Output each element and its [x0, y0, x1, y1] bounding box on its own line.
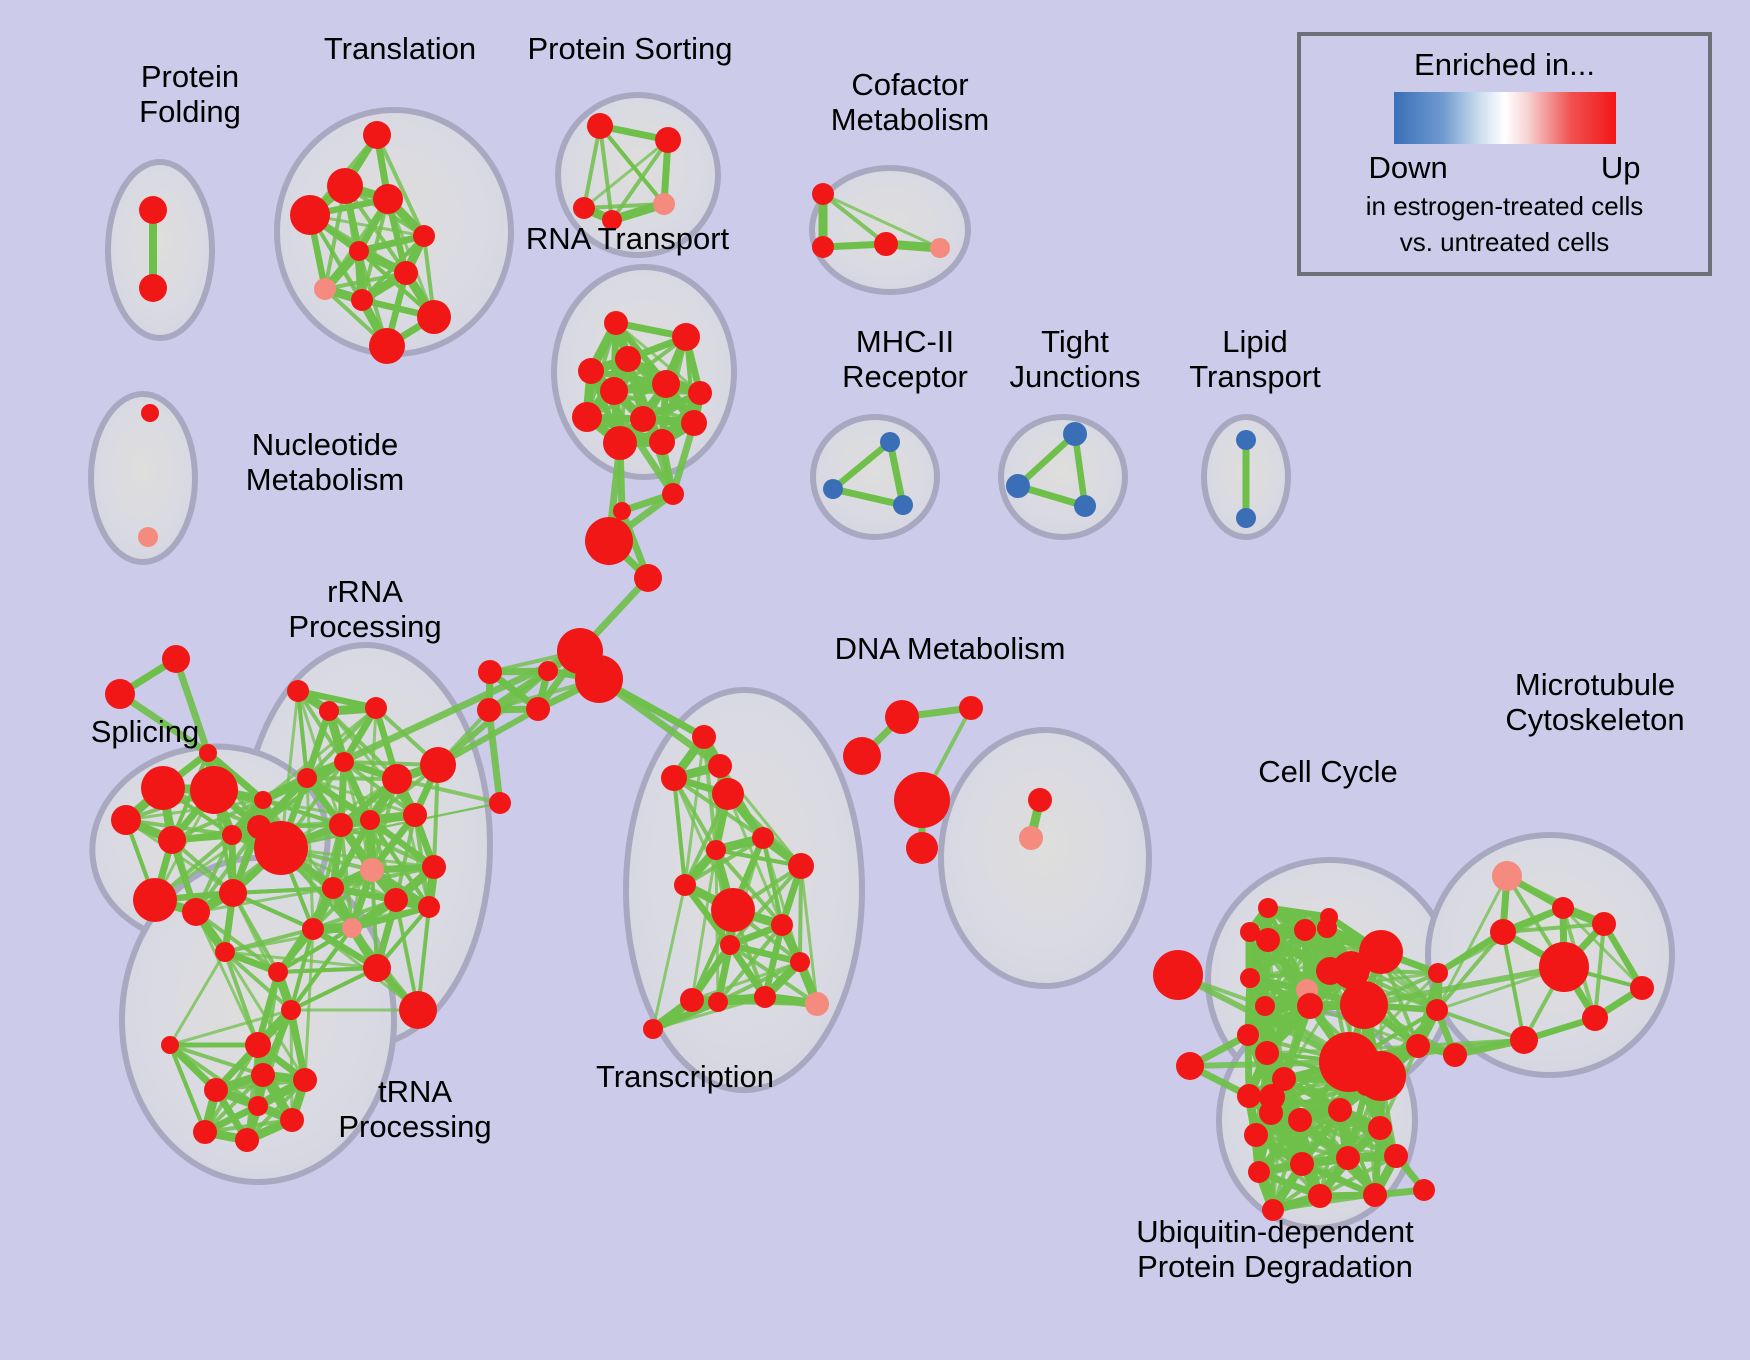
- network-node[interactable]: [812, 183, 834, 205]
- network-node[interactable]: [653, 193, 675, 215]
- network-node[interactable]: [1240, 922, 1260, 942]
- cluster-label-protein-sorting: Protein Sorting: [505, 32, 755, 67]
- network-node[interactable]: [138, 527, 158, 547]
- network-node[interactable]: [215, 942, 235, 962]
- network-node[interactable]: [403, 803, 427, 827]
- network-node[interactable]: [587, 113, 613, 139]
- network-node[interactable]: [1236, 508, 1256, 528]
- network-node[interactable]: [1063, 422, 1087, 446]
- network-node[interactable]: [105, 679, 135, 709]
- network-node[interactable]: [477, 698, 501, 722]
- network-node[interactable]: [1510, 1026, 1538, 1054]
- network-node[interactable]: [600, 377, 628, 405]
- cluster-hull-cofactor-metabolism: [812, 168, 968, 292]
- network-node[interactable]: [139, 196, 167, 224]
- cluster-label-dna-metabolism: DNA Metabolism: [815, 632, 1085, 667]
- network-node[interactable]: [688, 381, 712, 405]
- network-node[interactable]: [615, 346, 641, 372]
- network-node[interactable]: [655, 127, 681, 153]
- network-node[interactable]: [1368, 1116, 1392, 1140]
- cluster-label-rrna-processing: rRNA Processing: [250, 575, 480, 644]
- network-node[interactable]: [1552, 897, 1574, 919]
- network-node[interactable]: [1363, 1183, 1387, 1207]
- network-node[interactable]: [634, 564, 662, 592]
- network-node[interactable]: [334, 752, 354, 772]
- network-node[interactable]: [1320, 908, 1338, 926]
- cluster-label-ubiquitin-protein-degradation: Ubiquitin-dependent Protein Degradation: [1080, 1215, 1470, 1284]
- network-node[interactable]: [1406, 1034, 1430, 1058]
- network-node[interactable]: [1290, 1152, 1314, 1176]
- network-node[interactable]: [893, 495, 913, 515]
- network-node[interactable]: [652, 370, 680, 398]
- network-node[interactable]: [247, 815, 271, 839]
- network-node[interactable]: [382, 764, 412, 794]
- network-node[interactable]: [613, 502, 631, 520]
- network-node[interactable]: [661, 765, 687, 791]
- network-node[interactable]: [1630, 976, 1654, 1000]
- cluster-label-lipid-transport: Lipid Transport: [1150, 325, 1360, 394]
- legend-title: Enriched in...: [1414, 47, 1595, 83]
- network-node[interactable]: [1237, 1084, 1261, 1108]
- cluster-label-transcription: Transcription: [565, 1060, 805, 1095]
- network-node[interactable]: [708, 992, 728, 1012]
- network-node[interactable]: [141, 766, 185, 810]
- network-node[interactable]: [1074, 495, 1096, 517]
- network-node[interactable]: [672, 323, 700, 351]
- network-node[interactable]: [139, 274, 167, 302]
- network-node[interactable]: [342, 918, 362, 938]
- network-node[interactable]: [349, 241, 369, 261]
- network-node[interactable]: [287, 680, 309, 702]
- network-node[interactable]: [1028, 788, 1052, 812]
- cluster-label-translation: Translation: [285, 32, 515, 67]
- network-node[interactable]: [752, 827, 774, 849]
- network-node[interactable]: [788, 853, 814, 879]
- network-node[interactable]: [1006, 474, 1030, 498]
- network-node[interactable]: [204, 1078, 228, 1102]
- network-node[interactable]: [603, 426, 637, 460]
- network-node[interactable]: [235, 1128, 259, 1152]
- network-node[interactable]: [161, 1036, 179, 1054]
- network-node[interactable]: [297, 768, 317, 788]
- network-node[interactable]: [812, 236, 834, 258]
- network-node[interactable]: [365, 697, 387, 719]
- cluster-label-nucleotide-metabolism: Nucleotide Metabolism: [200, 428, 450, 497]
- network-node[interactable]: [930, 238, 950, 258]
- network-node[interactable]: [706, 840, 726, 860]
- network-node[interactable]: [1340, 981, 1388, 1029]
- cluster-label-tight-junctions: Tight Junctions: [975, 325, 1175, 394]
- cluster-hull-dna-metabolism: [941, 730, 1149, 986]
- cluster-label-trna-processing: tRNA Processing: [300, 1075, 530, 1144]
- network-node[interactable]: [111, 805, 141, 835]
- network-node[interactable]: [190, 766, 238, 814]
- network-node[interactable]: [604, 311, 628, 335]
- network-node[interactable]: [281, 1000, 301, 1020]
- network-node[interactable]: [418, 896, 440, 918]
- network-node[interactable]: [1359, 930, 1403, 974]
- network-node[interactable]: [248, 1096, 268, 1116]
- cluster-label-cell-cycle: Cell Cycle: [1228, 755, 1428, 790]
- network-node[interactable]: [692, 725, 716, 749]
- network-node[interactable]: [360, 810, 380, 830]
- legend-caption-line1: in estrogen-treated cells: [1366, 192, 1643, 222]
- network-node[interactable]: [327, 168, 363, 204]
- network-node[interactable]: [489, 792, 511, 814]
- network-node[interactable]: [1019, 826, 1043, 850]
- cluster-label-protein-folding: Protein Folding: [85, 60, 295, 129]
- network-node[interactable]: [1244, 1123, 1268, 1147]
- network-node[interactable]: [643, 1019, 663, 1039]
- network-node[interactable]: [712, 778, 744, 810]
- network-node[interactable]: [1539, 942, 1589, 992]
- network-node[interactable]: [413, 225, 435, 247]
- network-node[interactable]: [360, 858, 384, 882]
- network-node[interactable]: [1176, 1052, 1204, 1080]
- network-node[interactable]: [417, 300, 451, 334]
- network-node[interactable]: [141, 404, 159, 422]
- network-node[interactable]: [1355, 1072, 1379, 1096]
- network-node[interactable]: [133, 878, 177, 922]
- network-node[interactable]: [880, 432, 900, 452]
- network-node[interactable]: [630, 406, 656, 432]
- network-node[interactable]: [384, 888, 408, 912]
- network-node[interactable]: [1255, 996, 1275, 1016]
- network-node[interactable]: [222, 825, 242, 845]
- network-node[interactable]: [906, 832, 938, 864]
- network-node[interactable]: [314, 278, 336, 300]
- network-node[interactable]: [1237, 1024, 1259, 1046]
- network-node[interactable]: [708, 754, 732, 778]
- network-node[interactable]: [1492, 861, 1522, 891]
- legend-caption-line2: vs. untreated cells: [1400, 228, 1610, 258]
- network-node[interactable]: [1428, 963, 1448, 983]
- network-node[interactable]: [885, 700, 919, 734]
- network-node[interactable]: [478, 660, 502, 684]
- network-node[interactable]: [422, 855, 446, 879]
- network-node[interactable]: [1255, 1041, 1279, 1065]
- network-node[interactable]: [1240, 968, 1260, 988]
- network-node[interactable]: [319, 701, 339, 721]
- network-node[interactable]: [245, 1032, 271, 1058]
- network-node[interactable]: [754, 986, 776, 1008]
- cluster-hull-mhc-ii-receptor: [813, 417, 937, 537]
- legend-high-label: Up: [1601, 150, 1641, 186]
- network-node[interactable]: [1248, 1161, 1270, 1183]
- network-node[interactable]: [674, 874, 696, 896]
- legend-color-gradient-bar: [1394, 92, 1616, 144]
- network-node[interactable]: [1443, 1043, 1467, 1067]
- network-node[interactable]: [572, 402, 602, 432]
- legend-panel: Enriched in... Down Up in estrogen-treat…: [1297, 32, 1712, 276]
- legend-low-label: Down: [1369, 150, 1448, 186]
- network-node[interactable]: [843, 737, 881, 775]
- network-node[interactable]: [251, 1063, 275, 1087]
- network-node[interactable]: [823, 479, 843, 499]
- network-node[interactable]: [268, 962, 288, 982]
- network-node[interactable]: [1592, 912, 1616, 936]
- network-node[interactable]: [290, 195, 330, 235]
- network-node[interactable]: [805, 992, 829, 1016]
- network-node[interactable]: [420, 747, 456, 783]
- network-node[interactable]: [1297, 993, 1323, 1019]
- network-node[interactable]: [1288, 1108, 1312, 1132]
- network-node[interactable]: [578, 358, 604, 384]
- network-node[interactable]: [1259, 1101, 1283, 1125]
- network-node[interactable]: [1328, 1098, 1352, 1122]
- network-node[interactable]: [363, 121, 391, 149]
- network-node[interactable]: [538, 661, 558, 681]
- network-node[interactable]: [585, 517, 633, 565]
- network-node[interactable]: [394, 261, 418, 285]
- network-node[interactable]: [526, 697, 550, 721]
- network-node[interactable]: [1308, 1184, 1332, 1208]
- network-node[interactable]: [771, 914, 793, 936]
- network-node[interactable]: [254, 791, 272, 809]
- network-node[interactable]: [649, 429, 675, 455]
- network-node[interactable]: [1490, 919, 1516, 945]
- network-node[interactable]: [1236, 430, 1256, 450]
- network-node[interactable]: [351, 289, 373, 311]
- network-node[interactable]: [193, 1120, 217, 1144]
- network-node[interactable]: [373, 184, 403, 214]
- network-node[interactable]: [1294, 919, 1316, 941]
- network-node[interactable]: [1336, 1146, 1360, 1170]
- network-node[interactable]: [573, 197, 595, 219]
- network-node[interactable]: [1582, 1005, 1608, 1031]
- network-node[interactable]: [662, 483, 684, 505]
- cluster-hull-protein-folding: [108, 162, 212, 338]
- cluster-label-splicing: Splicing: [55, 715, 235, 750]
- network-node[interactable]: [874, 232, 898, 256]
- network-node[interactable]: [790, 952, 810, 972]
- network-node[interactable]: [399, 991, 437, 1029]
- network-node[interactable]: [1384, 1144, 1408, 1168]
- network-node[interactable]: [369, 328, 405, 364]
- network-node[interactable]: [1258, 898, 1278, 918]
- network-node[interactable]: [1153, 950, 1203, 1000]
- network-node[interactable]: [363, 954, 391, 982]
- network-node[interactable]: [302, 918, 324, 940]
- network-figure: Protein FoldingTranslationProtein Sortin…: [0, 0, 1750, 1360]
- network-node[interactable]: [681, 410, 707, 436]
- network-node[interactable]: [894, 772, 950, 828]
- network-node[interactable]: [1413, 1179, 1435, 1201]
- network-node[interactable]: [162, 645, 190, 673]
- network-node[interactable]: [711, 888, 755, 932]
- network-node[interactable]: [1426, 999, 1448, 1021]
- network-node[interactable]: [575, 655, 623, 703]
- cluster-label-rna-transport: RNA Transport: [500, 222, 755, 257]
- network-node[interactable]: [959, 696, 983, 720]
- network-node[interactable]: [158, 826, 186, 854]
- network-node[interactable]: [182, 898, 210, 926]
- cluster-label-microtubule-cytoskeleton: Microtubule Cytoskeleton: [1455, 668, 1735, 737]
- network-node[interactable]: [720, 935, 740, 955]
- edge: [800, 866, 801, 962]
- network-node[interactable]: [680, 988, 704, 1012]
- network-node[interactable]: [1272, 1067, 1296, 1091]
- network-node[interactable]: [322, 877, 344, 899]
- network-node[interactable]: [329, 813, 353, 837]
- cluster-label-cofactor-metabolism: Cofactor Metabolism: [790, 68, 1030, 137]
- network-node[interactable]: [219, 879, 247, 907]
